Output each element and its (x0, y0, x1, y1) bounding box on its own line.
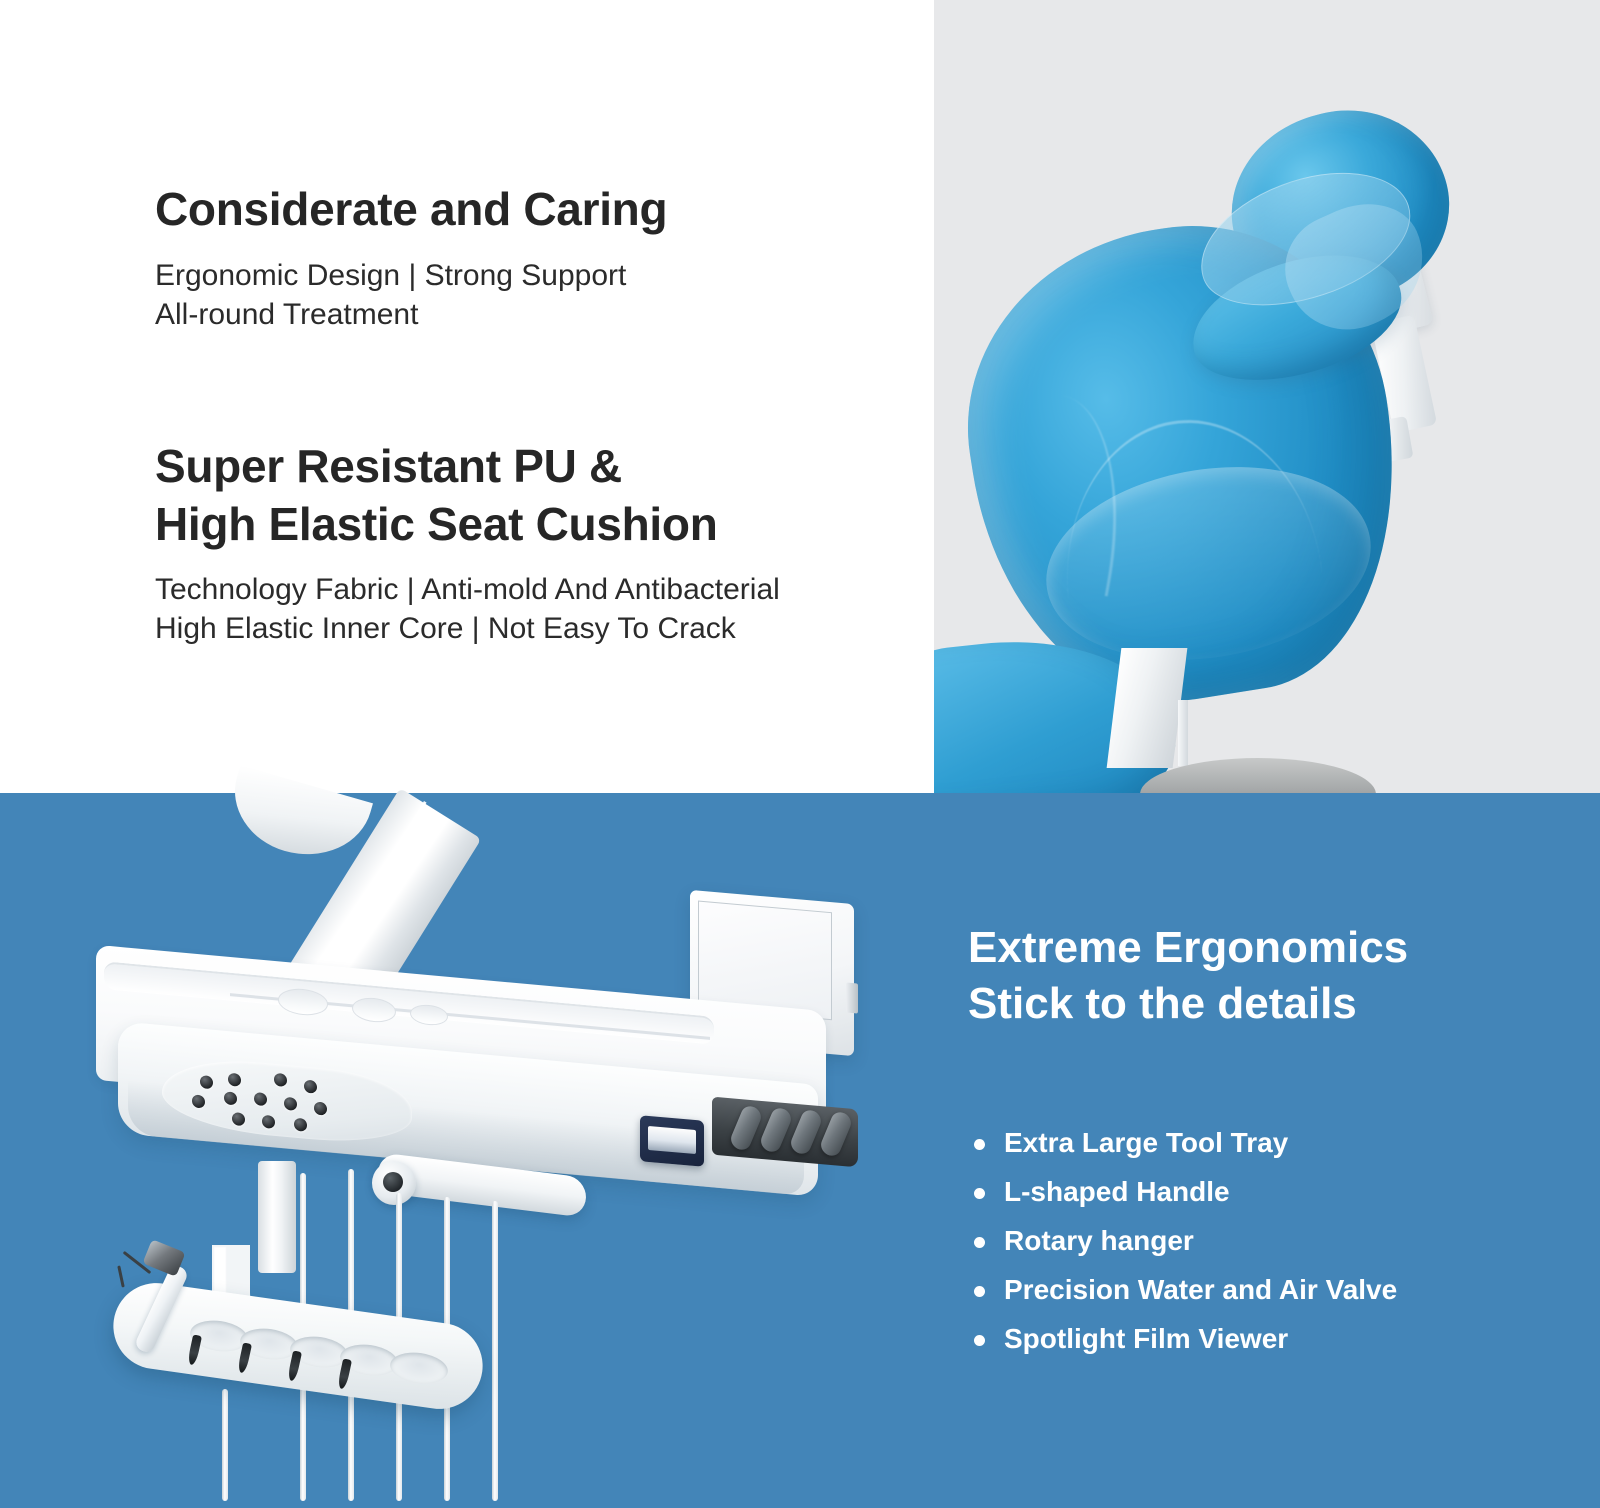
chair-column-stem (1178, 700, 1188, 766)
chair-base (1140, 758, 1376, 793)
feature-list-item: Rotary hanger (968, 1216, 1397, 1265)
feature-list-item: Extra Large Tool Tray (968, 1118, 1397, 1167)
product-feature-poster: Considerate and Caring Ergonomic Design … (0, 0, 1600, 1508)
feature-list-item: L-shaped Handle (968, 1167, 1397, 1216)
subtitle-super-resistant-pu: Technology Fabric | Anti-mold And Antiba… (155, 570, 780, 648)
bullet-icon (974, 1139, 985, 1150)
bullet-icon (974, 1286, 985, 1297)
bullet-icon (974, 1335, 985, 1346)
chair-support-column (1107, 648, 1188, 768)
chair-illustration (934, 0, 1600, 793)
feature-label: Extra Large Tool Tray (1004, 1127, 1288, 1158)
feature-label: Precision Water and Air Valve (1004, 1274, 1397, 1305)
top-text-panel: Considerate and Caring Ergonomic Design … (0, 0, 934, 793)
feature-list: Extra Large Tool Tray L-shaped Handle Ro… (968, 1118, 1397, 1363)
bullet-icon (974, 1188, 985, 1199)
subtitle-considerate-and-caring: Ergonomic Design | Strong SupportAll-rou… (155, 256, 626, 334)
top-section: Considerate and Caring Ergonomic Design … (0, 0, 1600, 793)
headline-super-resistant-pu: Super Resistant PU &High Elastic Seat Cu… (155, 437, 718, 553)
feature-list-item: Spotlight Film Viewer (968, 1314, 1397, 1363)
feature-label: Spotlight Film Viewer (1004, 1323, 1288, 1354)
headline-considerate-and-caring: Considerate and Caring (155, 182, 667, 236)
feature-label: L-shaped Handle (1004, 1176, 1230, 1207)
headline-extreme-ergonomics: Extreme ErgonomicsStick to the details (968, 920, 1408, 1032)
feature-list-item: Precision Water and Air Valve (968, 1265, 1397, 1314)
feature-label: Rotary hanger (1004, 1225, 1194, 1256)
dental-chair-photo (934, 0, 1600, 793)
bullet-icon (974, 1237, 985, 1248)
